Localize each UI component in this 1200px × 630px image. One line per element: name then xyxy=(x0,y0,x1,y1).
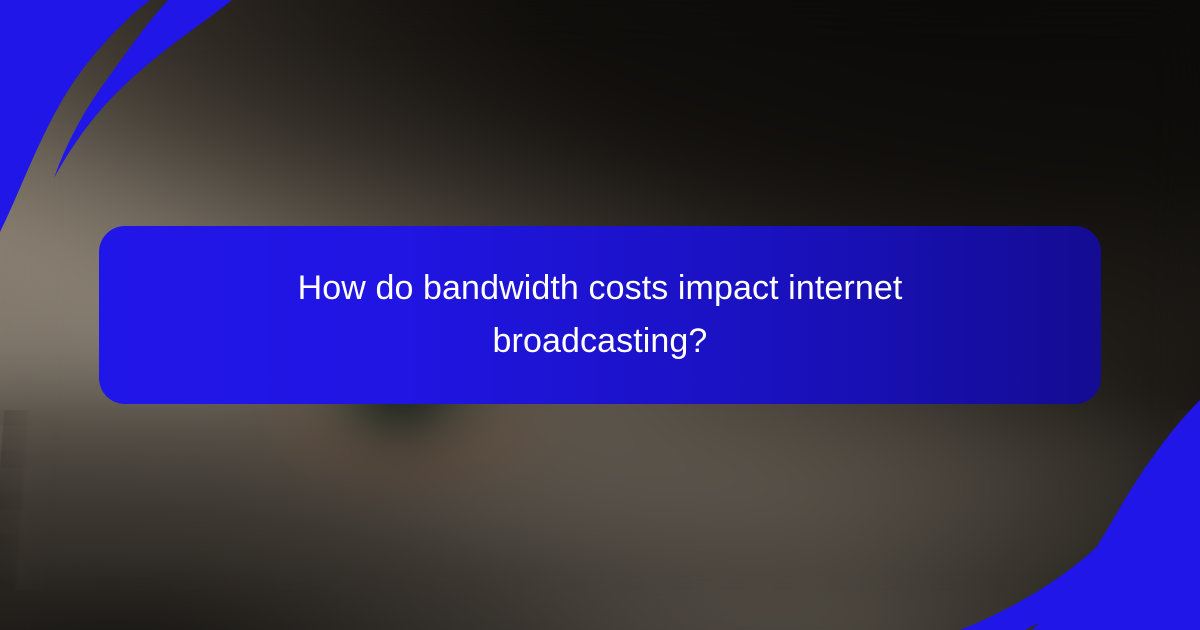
question-card: How do bandwidth costs impact internet b… xyxy=(99,226,1101,404)
question-text: How do bandwidth costs impact internet b… xyxy=(240,262,960,367)
share-card-canvas: How do bandwidth costs impact internet b… xyxy=(0,0,1200,630)
